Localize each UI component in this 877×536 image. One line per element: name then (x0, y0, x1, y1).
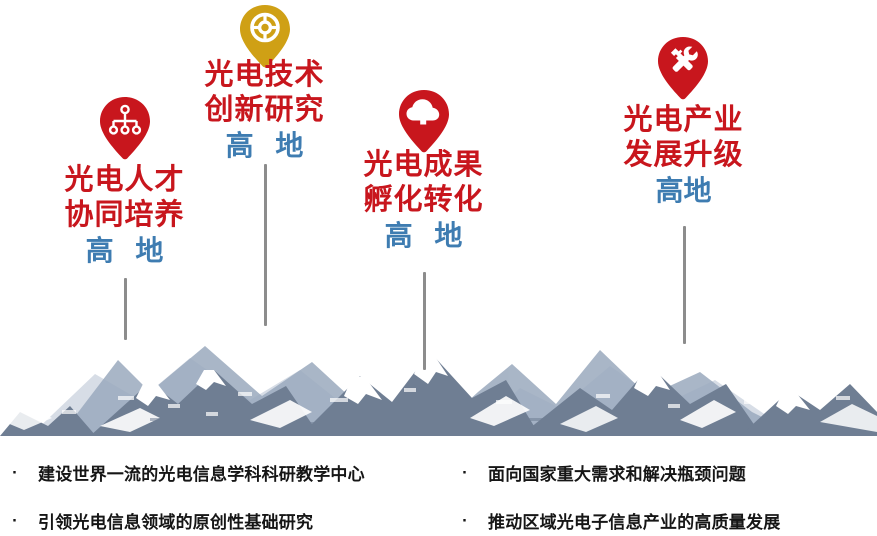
bullet-marker-icon: · (8, 464, 22, 481)
marker-talent-text: 光电人才 协同培养 高 地 (22, 163, 227, 269)
marker-industry-title-line1: 光电产业 (582, 103, 785, 138)
marker-industry-text: 光电产业 发展升级 高地 (582, 103, 785, 209)
bullet-item-3-text: 引领光电信息领域的原创性基础研究 (38, 508, 313, 533)
bullet-item-1-text: 建设世界一流的光电信息学科科研教学中心 (38, 460, 365, 485)
marker-achievement-title-line1: 光电成果 (322, 148, 525, 183)
tools-icon (656, 35, 710, 101)
connector-line-2 (264, 164, 267, 326)
bullet-item-2: · 面向国家重大需求和解决瓶颈问题 (458, 460, 746, 485)
connector-line-4 (683, 226, 686, 344)
bullet-item-4: · 推动区域光电子信息产业的高质量发展 (458, 508, 780, 533)
connector-line-3 (423, 272, 426, 370)
connector-line-1 (124, 278, 127, 340)
marker-technology-title-line2: 创新研究 (162, 93, 367, 128)
bullet-item-3: · 引领光电信息领域的原创性基础研究 (8, 508, 313, 533)
marker-achievement-subtitle: 高 地 (322, 218, 525, 254)
marker-industry-subtitle: 高地 (582, 173, 785, 209)
bullet-marker-icon: · (458, 464, 472, 481)
hierarchy-icon (98, 95, 152, 161)
marker-achievement-title-line2: 孵化转化 (322, 183, 525, 218)
marker-talent-title-line2: 协同培养 (22, 198, 227, 233)
marker-achievement-text: 光电成果 孵化转化 高 地 (322, 148, 525, 254)
infographic-canvas: 光电人才 协同培养 高 地 光电技术 创新研究 高 地 (0, 0, 877, 536)
bullet-marker-icon: · (8, 512, 22, 529)
bullet-item-2-text: 面向国家重大需求和解决瓶颈问题 (488, 460, 746, 485)
cloud-upload-icon (397, 88, 451, 154)
marker-technology-title-line1: 光电技术 (162, 58, 367, 93)
marker-talent-subtitle: 高 地 (22, 233, 227, 269)
goals-bullet-list: · 建设世界一流的光电信息学科科研教学中心 · 面向国家重大需求和解决瓶颈问题 … (0, 452, 877, 536)
bullet-item-4-text: 推动区域光电子信息产业的高质量发展 (488, 508, 780, 533)
mountain-range-illustration (0, 300, 877, 436)
bullet-item-1: · 建设世界一流的光电信息学科科研教学中心 (8, 460, 365, 485)
marker-industry-title-line2: 发展升级 (582, 138, 785, 173)
bullet-marker-icon: · (458, 512, 472, 529)
marker-talent-title-line1: 光电人才 (22, 163, 227, 198)
